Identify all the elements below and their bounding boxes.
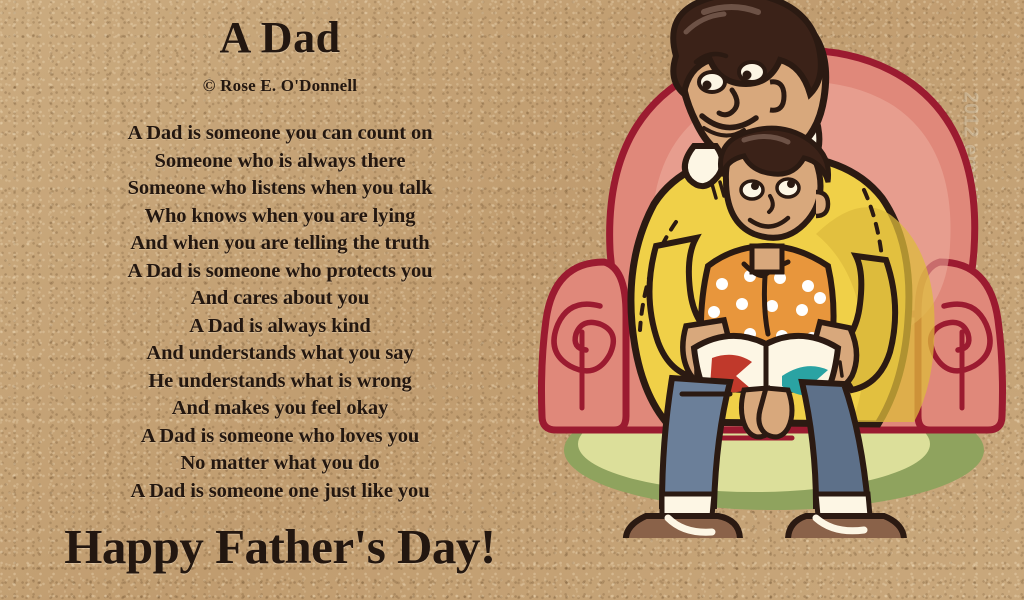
poem-body: A Dad is someone you can count on Someon… [0,120,560,505]
poem-line: A Dad is someone who loves you [0,423,560,451]
poem-text-column: A Dad © Rose E. O'Donnell A Dad is someo… [0,0,560,600]
poem-line: Someone who is always there [0,148,560,176]
poem-line: And makes you feel okay [0,395,560,423]
poem-line: Who knows when you are lying [0,203,560,231]
fathers-day-poster: A Dad © Rose E. O'Donnell A Dad is someo… [0,0,1024,600]
child-hands [741,388,792,437]
greeting-heading: Happy Father's Day! [0,518,560,575]
poem-line: He understands what is wrong [0,368,560,396]
illustration-svg [516,0,1024,538]
poem-byline: © Rose E. O'Donnell [0,76,560,96]
page-title: A Dad [0,12,560,63]
poem-line: And cares about you [0,285,560,313]
poem-line: Someone who listens when you talk [0,175,560,203]
father-and-child-illustration [516,0,1024,538]
poem-line: And understands what you say [0,340,560,368]
poem-line: A Dad is someone who protects you [0,258,560,286]
poem-line: And when you are telling the truth [0,230,560,258]
poem-line: No matter what you do [0,450,560,478]
poem-line: A Dad is someone you can count on [0,120,560,148]
poem-line: A Dad is always kind [0,313,560,341]
poem-line: A Dad is someone one just like you [0,478,560,506]
